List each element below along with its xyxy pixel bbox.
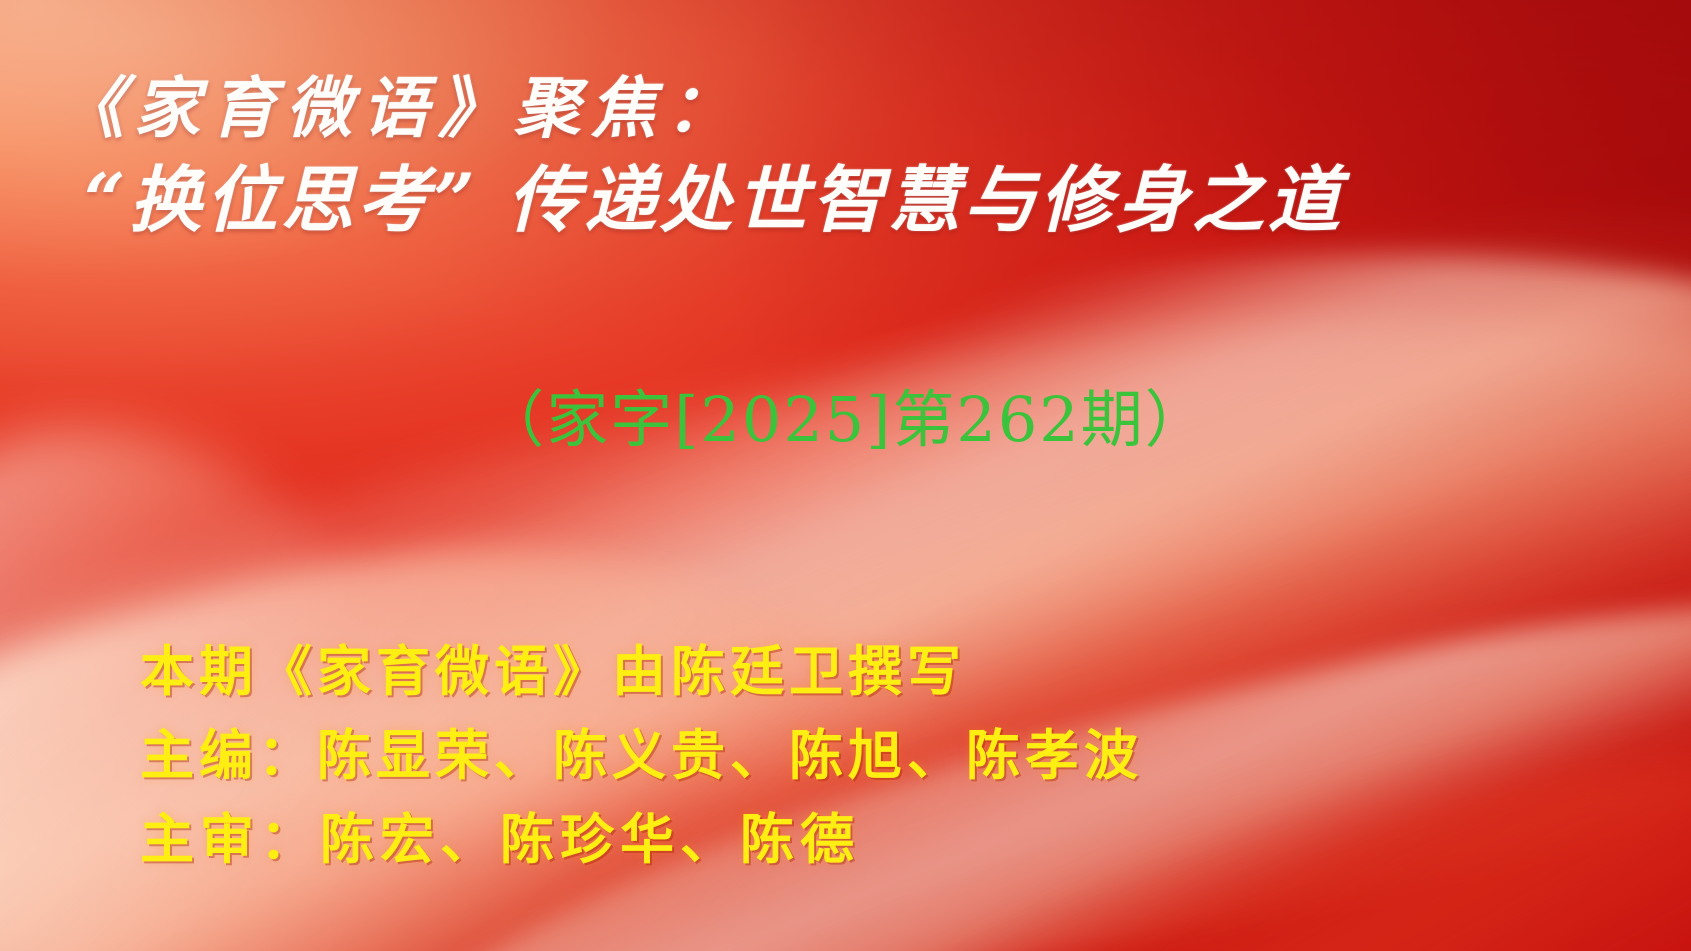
credit-author-line: 本期《家育微语》由陈廷卫撰写 — [140, 630, 1590, 714]
title-line-2: “换位思考” 传递处世智慧与修身之道 — [84, 154, 1638, 246]
issue-number: （家字[2025]第262期） — [0, 382, 1691, 458]
credit-editors-line: 主编：陈显荣、陈义贵、陈旭、陈孝波 — [140, 714, 1590, 798]
poster-title: 《家育微语》聚焦： “换位思考” 传递处世智慧与修身之道 — [58, 62, 1638, 246]
credit-reviewers-line: 主审：陈宏、陈珍华、陈德 — [140, 798, 1590, 882]
poster-canvas: 《家育微语》聚焦： “换位思考” 传递处世智慧与修身之道 （家字[2025]第2… — [0, 0, 1691, 951]
title-line-1: 《家育微语》聚焦： — [58, 62, 1638, 154]
credits-block: 本期《家育微语》由陈廷卫撰写 主编：陈显荣、陈义贵、陈旭、陈孝波 主审：陈宏、陈… — [140, 630, 1590, 882]
